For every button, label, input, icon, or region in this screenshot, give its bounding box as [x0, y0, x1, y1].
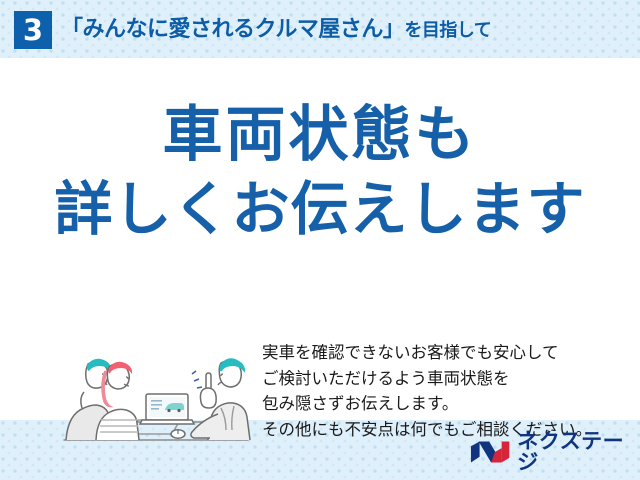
body-copy: 実車を確認できないお客様でも安心して ご検討いただけるよう車両状態を 包み隠さず…: [262, 340, 612, 442]
header: 3 「みんなに愛されるクルマ屋さん」を目指して: [0, 0, 640, 58]
nextage-n-mark: [470, 439, 510, 465]
body-copy-line-1: 実車を確認できないお客様でも安心して: [262, 340, 612, 366]
body-copy-line-3: 包み隠さずお伝えします。: [262, 391, 612, 417]
step-badge: 3: [14, 11, 52, 49]
brand-logo: ネクステージ: [470, 436, 640, 468]
body-copy-line-2: ご検討いただけるよう車両状態を: [262, 366, 612, 392]
step-badge-number: 3: [23, 16, 43, 45]
advertisement-banner: 3 「みんなに愛されるクルマ屋さん」を目指して 車両状態も 詳しくお伝えします: [0, 0, 640, 480]
headline-line-2: 詳しくお伝えします: [0, 172, 640, 246]
headline: 車両状態も 詳しくお伝えします: [0, 98, 640, 246]
brand-logo-text: ネクステージ: [517, 431, 640, 473]
headline-line-1: 車両状態も: [0, 98, 640, 172]
consultation-illustration: [58, 336, 254, 454]
header-title: 「みんなに愛されるクルマ屋さん」を目指して: [61, 13, 491, 48]
content-panel: 車両状態も 詳しくお伝えします: [0, 58, 640, 420]
header-title-main: 「みんなに愛されるクルマ屋さん」: [61, 17, 404, 42]
header-title-sub: を目指して: [404, 20, 491, 41]
